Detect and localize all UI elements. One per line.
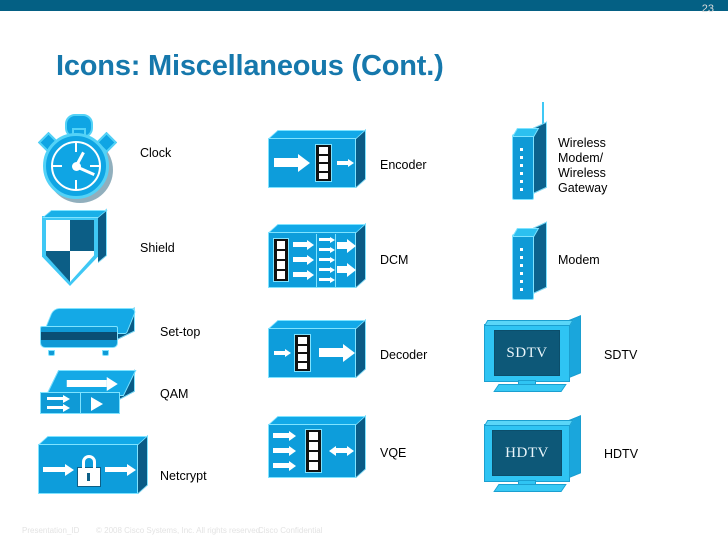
sdtv-screen: SDTV	[494, 330, 560, 376]
vqe-arrow-bidir-right	[335, 448, 347, 453]
netcrypt-side	[138, 435, 148, 494]
dcm-arrow-a2	[293, 257, 307, 262]
dcm-arrow-b2	[319, 248, 330, 251]
vqe-arrow-in-3	[273, 463, 289, 468]
footer-presentation-id: Presentation_ID	[22, 526, 79, 535]
slide-footer: Presentation_ID © 2008 Cisco Systems, In…	[0, 520, 728, 546]
decoder-arrow-out	[319, 348, 343, 357]
vqe-arrow-in-1	[273, 433, 289, 438]
qam-front-arrow-bottom	[47, 406, 63, 409]
label-modem: Modem	[558, 253, 600, 268]
netcrypt-face	[38, 444, 138, 494]
decoder-arrow-in	[274, 351, 285, 355]
slide-content: Clock Shield Set-top	[0, 100, 728, 520]
sdtv-base	[493, 384, 566, 392]
dcm-arrow-b3	[319, 258, 330, 261]
dcm-arrow-b1	[319, 238, 330, 241]
set-top-foot-right	[102, 350, 109, 356]
label-decoder: Decoder	[380, 348, 427, 363]
shield-top-cap	[42, 210, 108, 218]
netcrypt-arrow-in	[43, 467, 65, 472]
label-qam: QAM	[160, 387, 188, 402]
wireless-modem-leds	[520, 148, 523, 196]
clock-hub	[72, 162, 81, 171]
vqe-film-strip	[305, 429, 322, 473]
qam-panel-divider	[80, 393, 81, 413]
label-dcm: DCM	[380, 253, 408, 268]
label-clock: Clock	[140, 146, 171, 161]
dcm-divider-2	[335, 234, 336, 288]
clock-tick-6	[75, 180, 77, 189]
label-wireless-modem: Wireless Modem/ Wireless Gateway	[558, 136, 648, 196]
shield-quadrant-1	[46, 220, 70, 251]
clock-tick-12	[75, 143, 77, 152]
set-top-band	[41, 332, 117, 340]
padlock-keyhole	[87, 473, 90, 481]
hdtv-screen: HDTV	[492, 430, 562, 476]
top-accent-bar	[0, 0, 728, 11]
footer-confidentiality: Cisco Confidential	[258, 526, 322, 535]
decoder-face	[268, 328, 356, 378]
wireless-modem-front	[512, 134, 534, 200]
qam-play-triangle	[91, 397, 103, 411]
clock-dial	[43, 133, 109, 199]
sdtv-top-cap	[484, 320, 573, 326]
encoder-side	[356, 129, 366, 188]
dcm-side	[356, 223, 366, 288]
sdtv-screen-text: SDTV	[506, 345, 547, 362]
page-title: Icons: Miscellaneous (Cont.)	[56, 50, 444, 83]
clock-tick-9	[53, 165, 62, 167]
label-vqe: VQE	[380, 446, 406, 461]
qam-top-arrow	[67, 380, 107, 387]
page-number: 23	[702, 3, 714, 15]
dcm-divider-1	[316, 234, 317, 288]
qam-front-arrow-top	[47, 397, 63, 400]
dcm-arrow-b4	[319, 268, 330, 271]
shield-quadrant-2	[70, 220, 94, 251]
dcm-arrow-b5	[319, 278, 330, 281]
vqe-arrow-bidir-left	[329, 446, 336, 456]
encoder-face	[268, 138, 356, 188]
footer-copyright: © 2008 Cisco Systems, Inc. All rights re…	[96, 526, 262, 535]
encoder-arrow-in	[274, 158, 298, 167]
vqe-arrow-in-2	[273, 448, 289, 453]
label-netcrypt: Netcrypt	[160, 469, 207, 484]
modem-front	[512, 234, 534, 300]
dcm-arrow-c2	[337, 266, 347, 273]
dcm-film-strip	[273, 238, 289, 282]
encoder-film-strip	[315, 144, 332, 182]
decoder-side	[356, 319, 366, 378]
label-encoder: Encoder	[380, 158, 427, 173]
label-sdtv: SDTV	[604, 348, 637, 363]
label-shield: Shield	[140, 241, 175, 256]
vqe-side	[356, 415, 366, 478]
shield-quadrants	[46, 220, 94, 282]
shield-quadrant-3	[46, 251, 70, 282]
encoder-arrow-out	[337, 161, 348, 165]
modem-leds	[520, 248, 523, 296]
label-set-top: Set-top	[160, 325, 200, 340]
dcm-arrow-c1	[337, 242, 347, 249]
set-top-foot-left	[48, 350, 55, 356]
netcrypt-arrow-out	[105, 467, 127, 472]
shield-quadrant-4	[70, 251, 94, 282]
dcm-arrow-a3	[293, 272, 307, 277]
padlock-shackle	[82, 455, 96, 473]
hdtv-screen-text: HDTV	[505, 445, 549, 462]
decoder-film-strip	[294, 334, 311, 372]
clock-tick-3	[90, 165, 99, 167]
hdtv-base	[493, 484, 566, 492]
dcm-face	[268, 232, 356, 288]
label-hdtv: HDTV	[604, 447, 638, 462]
vqe-face	[268, 424, 356, 478]
dcm-arrow-a1	[293, 242, 307, 247]
hdtv-top-cap	[484, 420, 573, 426]
